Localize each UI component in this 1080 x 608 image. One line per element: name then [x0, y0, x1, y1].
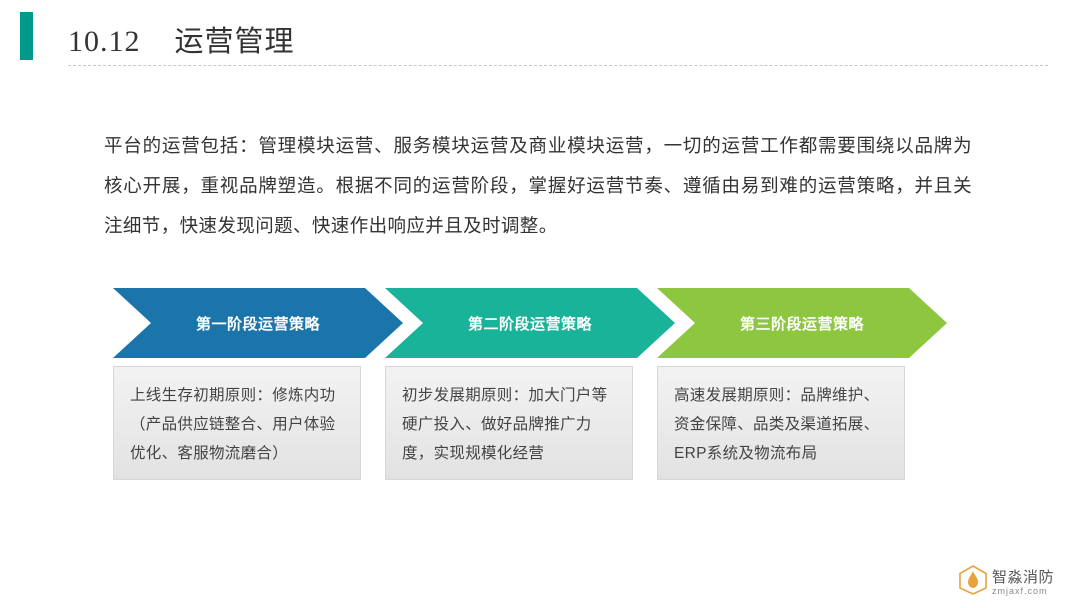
- footer-logo: 智淼消防 zmjaxf.com: [958, 565, 1070, 603]
- stage-chevron-1-label: 第一阶段运营策略: [196, 313, 320, 334]
- stage-card-1: 上线生存初期原则：修炼内功（产品供应链整合、用户体验优化、客服物流磨合）: [113, 366, 361, 480]
- brand-url: zmjaxf.com: [992, 586, 1048, 596]
- brand-name: 智淼消防: [992, 566, 1054, 587]
- flame-logo-icon: [958, 565, 988, 595]
- body-paragraph: 平台的运营包括：管理模块运营、服务模块运营及商业模块运营，一切的运营工作都需要围…: [104, 126, 972, 246]
- stage-chevron-3[interactable]: 第三阶段运营策略: [657, 288, 947, 358]
- stage-chevron-row: 第一阶段运营策略 第二阶段运营策略 第三阶段运营策略: [113, 288, 973, 358]
- slide-header: 10.12运营管理: [0, 0, 1080, 68]
- stage-chevron-1[interactable]: 第一阶段运营策略: [113, 288, 403, 358]
- stage-chevron-3-label: 第三阶段运营策略: [740, 313, 864, 334]
- stage-card-row: 上线生存初期原则：修炼内功（产品供应链整合、用户体验优化、客服物流磨合） 初步发…: [113, 366, 973, 484]
- page-title: 10.12运营管理: [68, 18, 295, 60]
- stage-card-3: 高速发展期原则：品牌维护、资金保障、品类及渠道拓展、ERP系统及物流布局: [657, 366, 905, 480]
- header-divider: [68, 65, 1048, 66]
- stage-card-2: 初步发展期原则：加大门户等硬广投入、做好品牌推广力度，实现规模化经营: [385, 366, 633, 480]
- stage-chevron-2[interactable]: 第二阶段运营策略: [385, 288, 675, 358]
- stage-chevron-2-label: 第二阶段运营策略: [468, 313, 592, 334]
- header-accent-bar: [20, 12, 33, 60]
- section-title: 运营管理: [175, 26, 295, 58]
- section-number: 10.12: [68, 25, 141, 58]
